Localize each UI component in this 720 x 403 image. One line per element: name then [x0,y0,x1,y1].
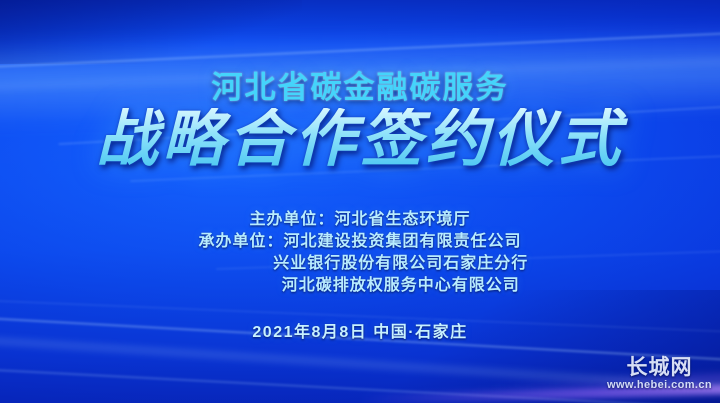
poster-content: 河北省碳金融碳服务 战略合作签约仪式 主办单位：河北省生态环境厅 承办单位：河北… [0,0,720,403]
organizer-block: 主办单位：河北省生态环境厅 承办单位：河北建设投资集团有限责任公司 兴业银行股份… [0,209,720,297]
poster-stage: 河北省碳金融碳服务 战略合作签约仪式 主办单位：河北省生态环境厅 承办单位：河北… [0,0,720,403]
event-datetime-location: 2021年8月8日 中国·石家庄 [0,318,720,342]
watermark-logo-text: 长城网 [607,356,712,377]
poster-subtitle: 河北省碳金融碳服务 [0,62,720,107]
organizer-unit-line-2: 兴业银行股份有限公司石家庄分行 [0,253,720,275]
organizer-unit-line-3: 河北碳排放权服务中心有限公司 [0,275,720,297]
poster-main-title: 战略合作签约仪式 [0,108,720,170]
watermark: 长城网 www.hebei.com.cn [607,356,712,391]
watermark-url: www.hebei.com.cn [607,380,712,391]
host-unit-line: 主办单位：河北省生态环境厅 [0,209,720,231]
organizer-unit-line: 承办单位：河北建设投资集团有限责任公司 [0,231,720,253]
